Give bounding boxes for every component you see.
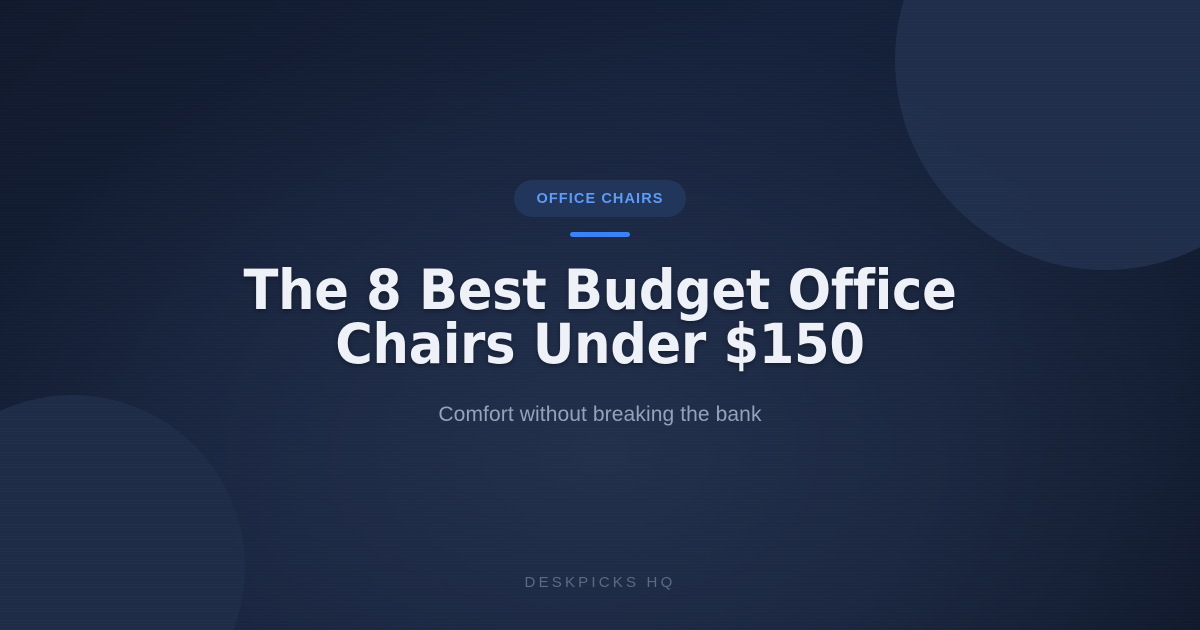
accent-divider-bar — [570, 232, 630, 237]
page-title: The 8 Best Budget Office Chairs Under $1… — [182, 263, 1019, 371]
subtitle: Comfort without breaking the bank — [438, 403, 761, 427]
hero-card: OFFICE CHAIRS The 8 Best Budget Office C… — [0, 0, 1200, 630]
hero-content: OFFICE CHAIRS The 8 Best Budget Office C… — [0, 0, 1200, 630]
category-badge: OFFICE CHAIRS — [514, 180, 685, 217]
